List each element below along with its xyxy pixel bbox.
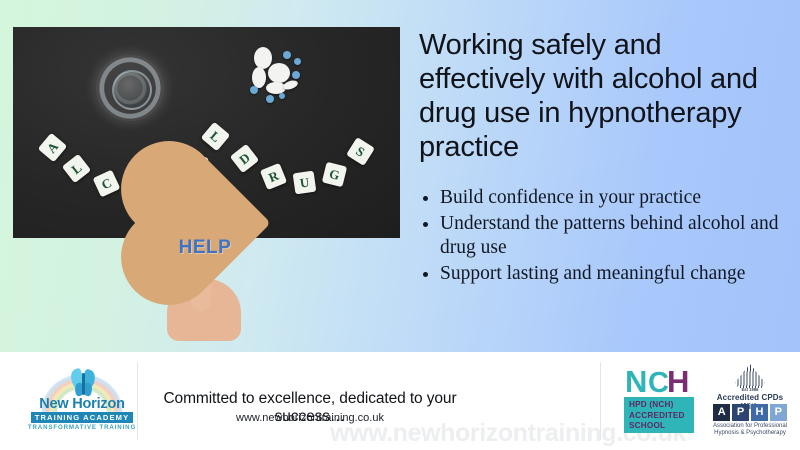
water-glass [96,55,164,121]
blue-pill [294,58,301,65]
blue-pill [250,86,258,94]
letter-tile: S [346,137,375,166]
footer-url[interactable]: www.newhorizontraining.co.uk [150,412,470,424]
aphp-crest-icon [735,364,765,388]
letter-tile: G [322,162,347,187]
nch-box-line-3: SCHOOL [629,421,694,432]
aphp-letter-p1: P [732,404,749,421]
nch-letter-c: C [648,368,669,398]
promotional-slide: A L C O H O L D R U G S HELP Working saf… [0,0,800,450]
help-label: HELP [145,237,265,259]
nch-letter-h: H [667,366,689,398]
nch-accredited-school-logo[interactable]: N C H HPD (NCH) ACCREDITED SCHOOL [624,366,700,436]
cardboard-heart [135,155,271,291]
aphp-subtitle-line-1: Association for Professional [709,423,791,430]
white-pill [268,63,290,83]
aphp-letter-blocks: A P H P [713,404,787,421]
aphp-accredited-logo[interactable]: Est 1986 Accredited CPDs With A P H P As… [709,362,791,438]
letter-tile: C [93,170,121,198]
blue-pill [283,51,291,59]
help-heart-and-hand: HELP [145,175,265,340]
aphp-letter-h: H [751,404,768,421]
white-pill [254,47,272,69]
list-item: Support lasting and meaningful change [440,262,794,287]
footer-divider-left [137,362,138,440]
aphp-letter-p2: P [770,404,787,421]
page-title: Working safely and effectively with alco… [419,29,787,165]
nch-box-line-1: HPD (NCH) [629,400,694,411]
list-item: Understand the patterns behind alcohol a… [440,212,794,261]
benefits-list: Build confidence in your practice Unders… [419,186,794,287]
aphp-subtitle-line-2: Hypnosis & Psychotherapy [709,430,791,437]
pills-cluster [250,45,310,107]
letter-tile: D [230,144,259,173]
list-item: Build confidence in your practice [440,186,794,211]
letter-tile: U [293,171,317,195]
aphp-subtitle: Association for Professional Hypnosis & … [709,423,791,438]
new-horizon-name: New Horizon [27,396,137,412]
butterfly-icon [71,369,97,399]
blue-pill [292,71,300,79]
blue-pill [279,93,285,99]
new-horizon-tagline: TRANSFORMATIVE TRAINING [27,424,137,431]
nch-letters: N C H [624,366,700,400]
letter-tile: L [62,154,91,183]
nch-accreditation-box: HPD (NCH) ACCREDITED SCHOOL [624,397,694,433]
letter-tile: A [38,133,68,163]
blue-pill [266,95,274,103]
letter-tile: L [201,122,231,152]
new-horizon-academy-bar: TRAINING ACADEMY [31,412,133,423]
nch-box-line-2: ACCREDITED [629,411,694,422]
aphp-established: Est 1986 [709,387,791,392]
aphp-letter-a: A [713,404,730,421]
nch-letter-n: N [625,366,645,398]
new-horizon-logo[interactable]: New Horizon TRAINING ACADEMY TRANSFORMAT… [27,366,137,430]
white-pill [252,67,266,88]
